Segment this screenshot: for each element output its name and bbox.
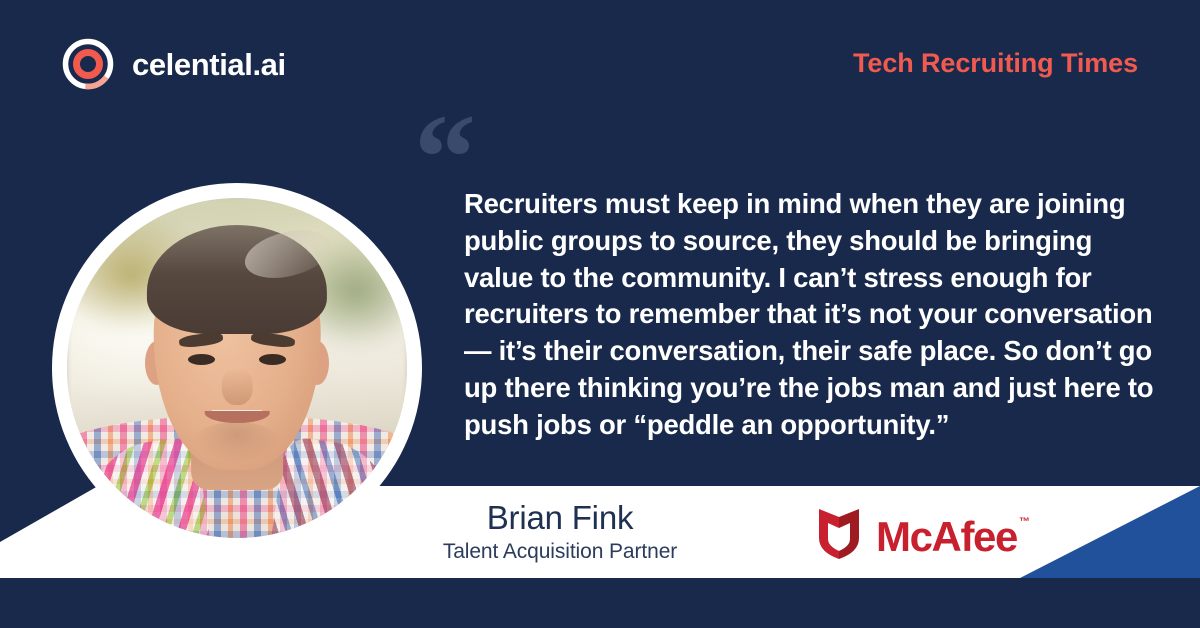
avatar (52, 183, 422, 553)
brand-name: celential.ai (132, 49, 286, 80)
person-name: Brian Fink (380, 498, 740, 538)
mcafee-shield-icon (816, 508, 862, 565)
trademark-symbol: ™ (1019, 517, 1030, 528)
mcafee-wordmark: McAfee ™ (876, 516, 1017, 558)
brand-lockup: celential.ai (62, 38, 286, 90)
attribution: Brian Fink Talent Acquisition Partner (380, 498, 740, 566)
publication-kicker: Tech Recruiting Times (853, 50, 1138, 77)
quote-text: Recruiters must keep in mind when they a… (464, 186, 1154, 444)
celential-target-ring-icon (62, 38, 114, 90)
company-lockup: McAfee ™ (816, 508, 1017, 565)
quote-card: celential.ai Tech Recruiting Times “ Rec… (0, 0, 1200, 628)
person-photo-avatar (67, 198, 407, 538)
person-role: Talent Acquisition Partner (380, 538, 740, 566)
mcafee-name: McAfee (876, 513, 1017, 560)
blue-corner-accent (1020, 486, 1200, 578)
